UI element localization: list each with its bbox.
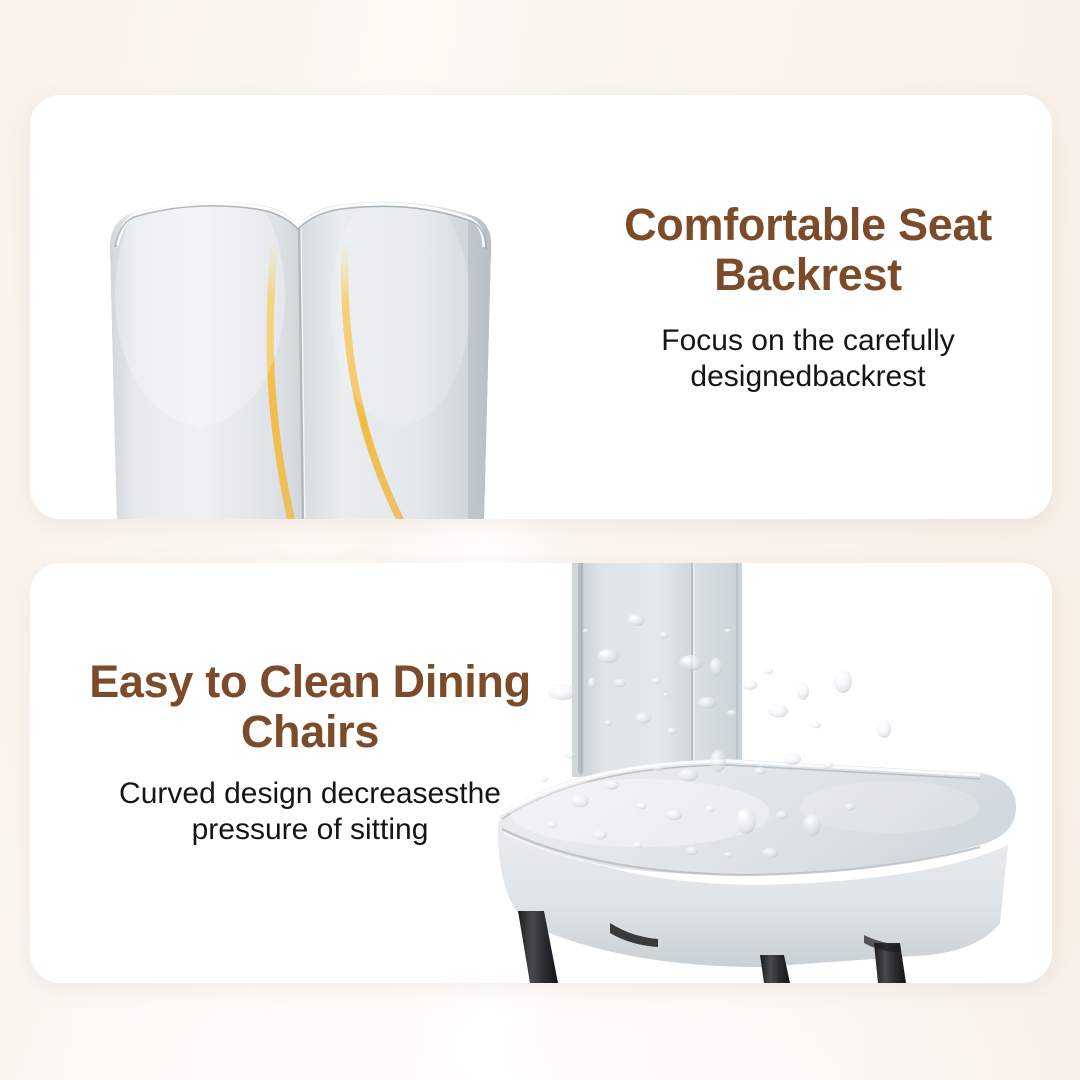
infographic-stage: Comfortable Seat Backrest Focus on the c… [0, 0, 1080, 1080]
backrest-headline: Comfortable Seat Backrest [558, 200, 1052, 301]
backrest-text-block: Comfortable Seat Backrest Focus on the c… [558, 200, 1052, 396]
dining-chair-water-droplets-image [460, 563, 1052, 983]
feature-card-easy-clean: Easy to Clean Dining Chairs Curved desig… [30, 563, 1052, 983]
chair-seat-part [498, 759, 1016, 967]
backrest-subtext: Focus on the carefully designedbackrest [558, 323, 1052, 396]
feature-card-backrest: Comfortable Seat Backrest Focus on the c… [30, 95, 1052, 519]
chair-backrest-closeup-image [70, 95, 530, 519]
